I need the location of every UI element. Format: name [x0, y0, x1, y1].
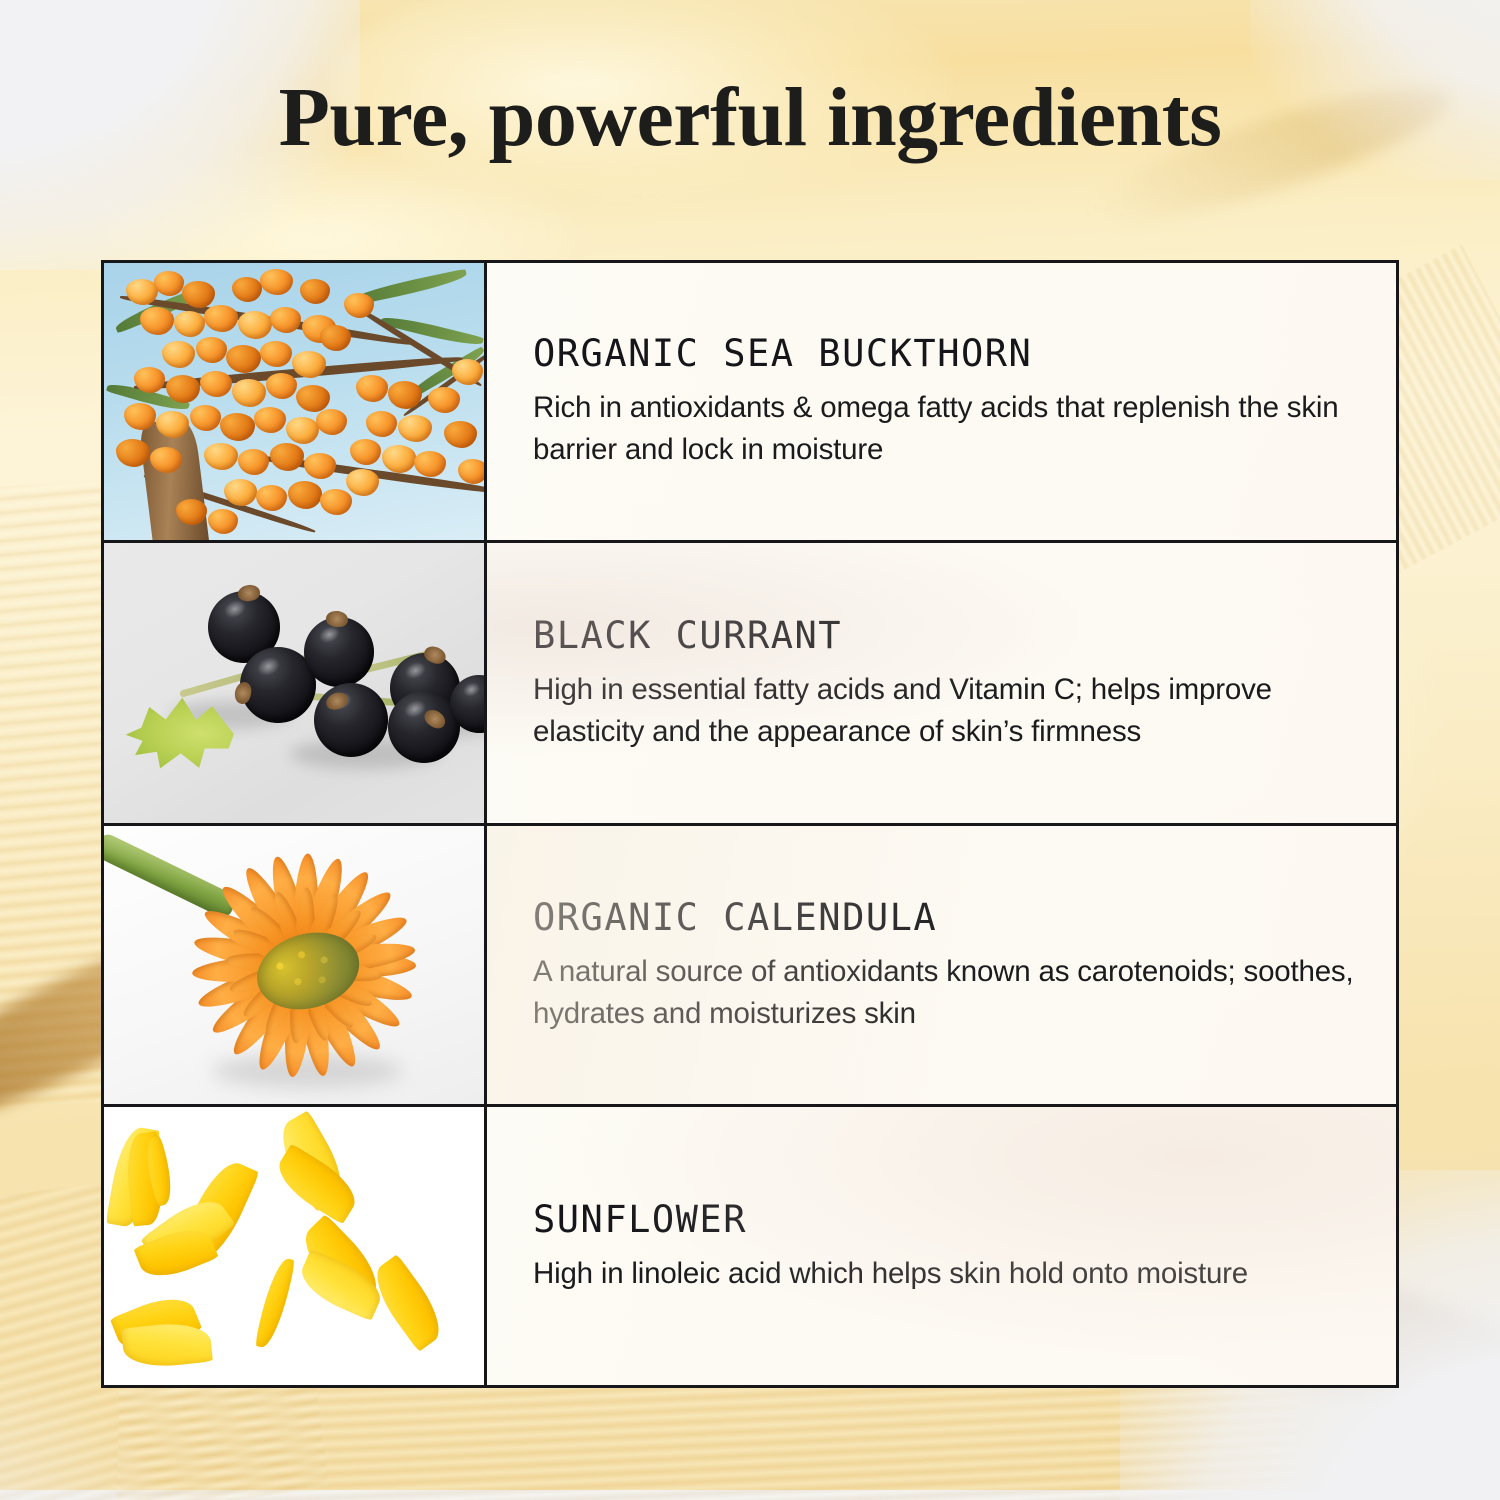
ingredient-description: High in essential fatty acids and Vitami…	[533, 669, 1354, 753]
table-row: BLACK CURRANT High in essential fatty ac…	[104, 543, 1396, 826]
ingredients-infographic: Pure, powerful ingredients	[0, 0, 1500, 1500]
ingredient-image-sunflower	[104, 1107, 487, 1385]
ingredient-text-black-currant: BLACK CURRANT High in essential fatty ac…	[487, 543, 1396, 823]
ingredient-name: ORGANIC SEA BUCKTHORN	[533, 332, 1354, 375]
ingredient-text-calendula: ORGANIC CALENDULA A natural source of an…	[487, 826, 1396, 1104]
ingredient-image-calendula	[104, 826, 487, 1104]
page-title: Pure, powerful ingredients	[0, 76, 1500, 160]
ingredient-text-sunflower: SUNFLOWER High in linoleic acid which he…	[487, 1107, 1396, 1385]
ingredients-table: ORGANIC SEA BUCKTHORN Rich in antioxidan…	[101, 260, 1399, 1388]
ingredient-image-sea-buckthorn	[104, 263, 487, 540]
ingredient-name: ORGANIC CALENDULA	[533, 896, 1354, 939]
table-row: ORGANIC SEA BUCKTHORN Rich in antioxidan…	[104, 263, 1396, 543]
ingredient-description: Rich in antioxidants & omega fatty acids…	[533, 387, 1354, 471]
ingredient-image-black-currant	[104, 543, 487, 823]
ingredient-description: High in linoleic acid which helps skin h…	[533, 1253, 1354, 1295]
ingredient-description: A natural source of antioxidants known a…	[533, 951, 1354, 1035]
table-row: ORGANIC CALENDULA A natural source of an…	[104, 826, 1396, 1107]
table-row: SUNFLOWER High in linoleic acid which he…	[104, 1107, 1396, 1385]
ingredient-text-sea-buckthorn: ORGANIC SEA BUCKTHORN Rich in antioxidan…	[487, 263, 1396, 540]
ingredient-name: BLACK CURRANT	[533, 614, 1354, 657]
ingredient-name: SUNFLOWER	[533, 1198, 1354, 1241]
